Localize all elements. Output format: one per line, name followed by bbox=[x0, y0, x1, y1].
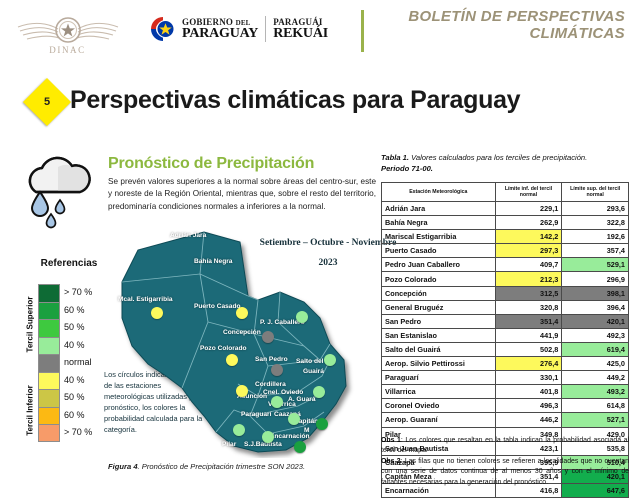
table-row: Adrián Jara229,1293,6 bbox=[382, 202, 629, 216]
obs2-text: : Las filas que no tienen colores se ref… bbox=[381, 458, 629, 486]
map-station-dot[interactable] bbox=[226, 354, 238, 366]
map-label: Concepción bbox=[223, 329, 261, 336]
map-label: Guairá bbox=[303, 368, 324, 375]
cell-station: Bahía Negra bbox=[382, 216, 496, 230]
page-title: Perspectivas climáticas para Paraguay bbox=[70, 86, 520, 115]
column-header-upper-limit: Límite sup. del tercil normal bbox=[562, 183, 629, 202]
map-station-dot[interactable] bbox=[288, 413, 300, 425]
cell-lower-limit: 502,8 bbox=[495, 342, 562, 356]
cell-upper-limit: 493,2 bbox=[562, 385, 629, 399]
forecast-heading: Pronóstico de Precipitación bbox=[108, 155, 314, 173]
cell-station: Salto del Guairá bbox=[382, 342, 496, 356]
legend-swatches bbox=[38, 284, 60, 442]
logo-divider bbox=[265, 16, 266, 42]
legend-swatch-6 bbox=[38, 389, 60, 407]
map-label: Bahía Negra bbox=[194, 258, 232, 265]
table-row: Pedro Juan Caballero409,7529,1 bbox=[382, 258, 629, 272]
figure-caption-bold: Figura 4 bbox=[108, 462, 138, 471]
cell-upper-limit: 398,1 bbox=[562, 286, 629, 300]
map-station-dot[interactable] bbox=[271, 364, 283, 376]
cell-station: Pedro Juan Caballero bbox=[382, 258, 496, 272]
map-label: Cnel. Oviedo bbox=[263, 389, 303, 396]
cell-lower-limit: 441,9 bbox=[495, 328, 562, 342]
table-caption-rest: Valores calculados para los terciles de … bbox=[409, 153, 587, 162]
map-station-dot[interactable] bbox=[236, 307, 248, 319]
map-station-dot[interactable] bbox=[262, 431, 274, 443]
map-label: Encarnación bbox=[270, 433, 310, 440]
paraguay-emblem-icon bbox=[150, 16, 176, 42]
cell-lower-limit: 262,9 bbox=[495, 216, 562, 230]
map-label: Salto del bbox=[296, 358, 323, 365]
cell-station: Paraguarí bbox=[382, 371, 496, 385]
map-label: Pozo Colorado bbox=[200, 345, 247, 352]
figure-caption: Figura 4. Pronóstico de Precipitación tr… bbox=[108, 462, 378, 471]
gov-line2: PARAGUAY bbox=[182, 27, 258, 41]
government-gn: PARAGUÁI REKUÁI bbox=[273, 18, 328, 41]
legend: Tercil Superior Tercil Inferior > 70 %60… bbox=[22, 284, 114, 442]
gov-gn-line2: REKUÁI bbox=[273, 27, 328, 41]
cell-upper-limit: 527,1 bbox=[562, 413, 629, 427]
cell-lower-limit: 401,8 bbox=[495, 385, 562, 399]
figure-caption-rest: . Pronóstico de Precipitación trimestre … bbox=[138, 462, 306, 471]
map-station-dot[interactable] bbox=[262, 331, 274, 343]
map-label: Mcal. Estigarribia bbox=[118, 296, 173, 303]
banner-line1: BOLETÍN DE PERSPECTIVAS bbox=[375, 8, 625, 25]
map-label: Cordillera bbox=[255, 381, 286, 388]
legend-swatch-1 bbox=[38, 302, 60, 320]
table-caption-period: Periodo 71-00. bbox=[381, 164, 433, 173]
map-label: Pilar bbox=[222, 441, 236, 448]
table-row: Aerop. Silvio Pettirossi276,4425,0 bbox=[382, 357, 629, 371]
map-station-dot[interactable] bbox=[316, 418, 328, 430]
obs2-label: Obs 2 bbox=[381, 458, 401, 465]
legend-swatch-0 bbox=[38, 284, 60, 302]
table-row: San Estanislao441,9492,3 bbox=[382, 328, 629, 342]
table-row: Salto del Guairá502,8619,4 bbox=[382, 342, 629, 356]
cell-station: Aerop. Silvio Pettirossi bbox=[382, 357, 496, 371]
cell-lower-limit: 409,7 bbox=[495, 258, 562, 272]
cell-station: General Bruguéz bbox=[382, 300, 496, 314]
cell-station: Puerto Casado bbox=[382, 244, 496, 258]
cell-upper-limit: 192,6 bbox=[562, 230, 629, 244]
map-station-dot[interactable] bbox=[296, 311, 308, 323]
cell-upper-limit: 322,8 bbox=[562, 216, 629, 230]
table-row: Pozo Colorado212,3296,9 bbox=[382, 272, 629, 286]
cell-station: Concepción bbox=[382, 286, 496, 300]
column-header-lower-limit: Límite inf. del tercil normal bbox=[495, 183, 562, 202]
cell-upper-limit: 357,4 bbox=[562, 244, 629, 258]
map-station-dot[interactable] bbox=[294, 441, 306, 453]
map-station-dot[interactable] bbox=[324, 354, 336, 366]
rain-cloud-icon bbox=[16, 152, 98, 238]
cell-station: San Pedro bbox=[382, 314, 496, 328]
map-station-dot[interactable] bbox=[236, 385, 248, 397]
cell-upper-limit: 492,3 bbox=[562, 328, 629, 342]
map-station-dot[interactable] bbox=[271, 396, 283, 408]
cell-lower-limit: 297,3 bbox=[495, 244, 562, 258]
cell-lower-limit: 320,8 bbox=[495, 300, 562, 314]
legend-swatch-4 bbox=[38, 354, 60, 372]
cell-lower-limit: 276,4 bbox=[495, 357, 562, 371]
government-es: GOBIERNO DEL PARAGUAY bbox=[182, 18, 258, 41]
cell-station: Aerop. Guaraní bbox=[382, 413, 496, 427]
section-badge-number: 5 bbox=[30, 85, 64, 119]
legend-title: Referencias bbox=[24, 258, 114, 269]
cell-upper-limit: 619,4 bbox=[562, 342, 629, 356]
dinac-logo: DINAC bbox=[10, 6, 125, 62]
map-station-dot[interactable] bbox=[151, 307, 163, 319]
table-caption: Tabla 1. Valores calculados para los ter… bbox=[381, 152, 631, 175]
page-header: DINAC GOBIERNO DEL PARAGUAY PARAGUÁI REK… bbox=[0, 0, 633, 62]
cell-lower-limit: 142,2 bbox=[495, 230, 562, 244]
winged-star-emblem-icon bbox=[14, 13, 122, 47]
legend-tercile-labels: Tercil Superior Tercil Inferior bbox=[22, 284, 36, 442]
table-row: Puerto Casado297,3357,4 bbox=[382, 244, 629, 258]
legend-swatch-2 bbox=[38, 319, 60, 337]
table-row: Paraguarí330,1449,2 bbox=[382, 371, 629, 385]
cell-station: San Estanislao bbox=[382, 328, 496, 342]
table-row: Mariscal Estigarribia142,2192,6 bbox=[382, 230, 629, 244]
map-label: Puerto Casado bbox=[194, 303, 241, 310]
map-label: San Pedro bbox=[255, 356, 288, 363]
table-row: Bahía Negra262,9322,8 bbox=[382, 216, 629, 230]
cell-upper-limit: 396,4 bbox=[562, 300, 629, 314]
cell-lower-limit: 446,2 bbox=[495, 413, 562, 427]
legend-swatch-3 bbox=[38, 337, 60, 355]
government-logo: GOBIERNO DEL PARAGUAY PARAGUÁI REKUÁI bbox=[150, 13, 328, 45]
table-row: Concepción312,5398,1 bbox=[382, 286, 629, 300]
cell-lower-limit: 496,3 bbox=[495, 399, 562, 413]
cell-lower-limit: 229,1 bbox=[495, 202, 562, 216]
cell-upper-limit: 529,1 bbox=[562, 258, 629, 272]
cell-upper-limit: 449,2 bbox=[562, 371, 629, 385]
map-station-dot[interactable] bbox=[233, 424, 245, 436]
table-row: General Bruguéz320,8396,4 bbox=[382, 300, 629, 314]
cell-lower-limit: 212,3 bbox=[495, 272, 562, 286]
cell-upper-limit: 420,1 bbox=[562, 314, 629, 328]
cell-station: Coronel Oviedo bbox=[382, 399, 496, 413]
forecast-body: Se prevén valores superiores a la normal… bbox=[108, 176, 376, 213]
precipitation-map: Setiembre – Octubre - Noviembre 2023 Adr… bbox=[108, 226, 380, 458]
legend-swatch-7 bbox=[38, 407, 60, 425]
obs1-text: : Los colores que resaltan en la tabla i… bbox=[381, 437, 629, 454]
cell-upper-limit: 293,6 bbox=[562, 202, 629, 216]
legend-upper-tercile-label: Tercil Superior bbox=[26, 295, 35, 355]
cell-station: Mariscal Estigarribia bbox=[382, 230, 496, 244]
table-row: San Pedro351,4420,1 bbox=[382, 314, 629, 328]
table-header-row: Estación Meteorológica Límite inf. del t… bbox=[382, 183, 629, 202]
banner-line2: CLIMÁTICAS bbox=[375, 25, 625, 42]
obs1-label: Obs 1 bbox=[381, 437, 401, 444]
map-label: S.J.Bautista bbox=[244, 441, 282, 448]
map-station-dot[interactable] bbox=[313, 386, 325, 398]
map-label: Adrián Jara bbox=[170, 232, 206, 239]
table-observations: Obs 1: Los colores que resaltan en la ta… bbox=[381, 436, 629, 488]
cell-lower-limit: 312,5 bbox=[495, 286, 562, 300]
page-title-row: 5 Perspectivas climáticas para Paraguay bbox=[16, 84, 446, 126]
cell-upper-limit: 296,9 bbox=[562, 272, 629, 286]
legend-lower-tercile-label: Tercil Inferior bbox=[26, 381, 35, 441]
cell-station: Villarrica bbox=[382, 385, 496, 399]
legend-swatch-8 bbox=[38, 424, 60, 442]
cell-station: Pozo Colorado bbox=[382, 272, 496, 286]
legend-swatch-5 bbox=[38, 372, 60, 390]
table-row: Coronel Oviedo496,3614,8 bbox=[382, 399, 629, 413]
table-row: Aerop. Guaraní446,2527,1 bbox=[382, 413, 629, 427]
table-row: Villarrica401,8493,2 bbox=[382, 385, 629, 399]
cell-lower-limit: 330,1 bbox=[495, 371, 562, 385]
government-wordmark: GOBIERNO DEL PARAGUAY PARAGUÁI REKUÁI bbox=[182, 16, 328, 42]
cell-station: Adrián Jara bbox=[382, 202, 496, 216]
bulletin-page: DINAC GOBIERNO DEL PARAGUAY PARAGUÁI REK… bbox=[0, 0, 633, 487]
cell-upper-limit: 425,0 bbox=[562, 357, 629, 371]
table-caption-bold: Tabla 1. bbox=[381, 153, 409, 162]
column-header-station: Estación Meteorológica bbox=[382, 183, 496, 202]
banner-accent-bar bbox=[361, 10, 364, 52]
map-label: Paraguarí bbox=[241, 411, 271, 418]
cell-upper-limit: 614,8 bbox=[562, 399, 629, 413]
cell-lower-limit: 351,4 bbox=[495, 314, 562, 328]
bulletin-banner: BOLETÍN DE PERSPECTIVAS CLIMÁTICAS bbox=[375, 8, 625, 54]
